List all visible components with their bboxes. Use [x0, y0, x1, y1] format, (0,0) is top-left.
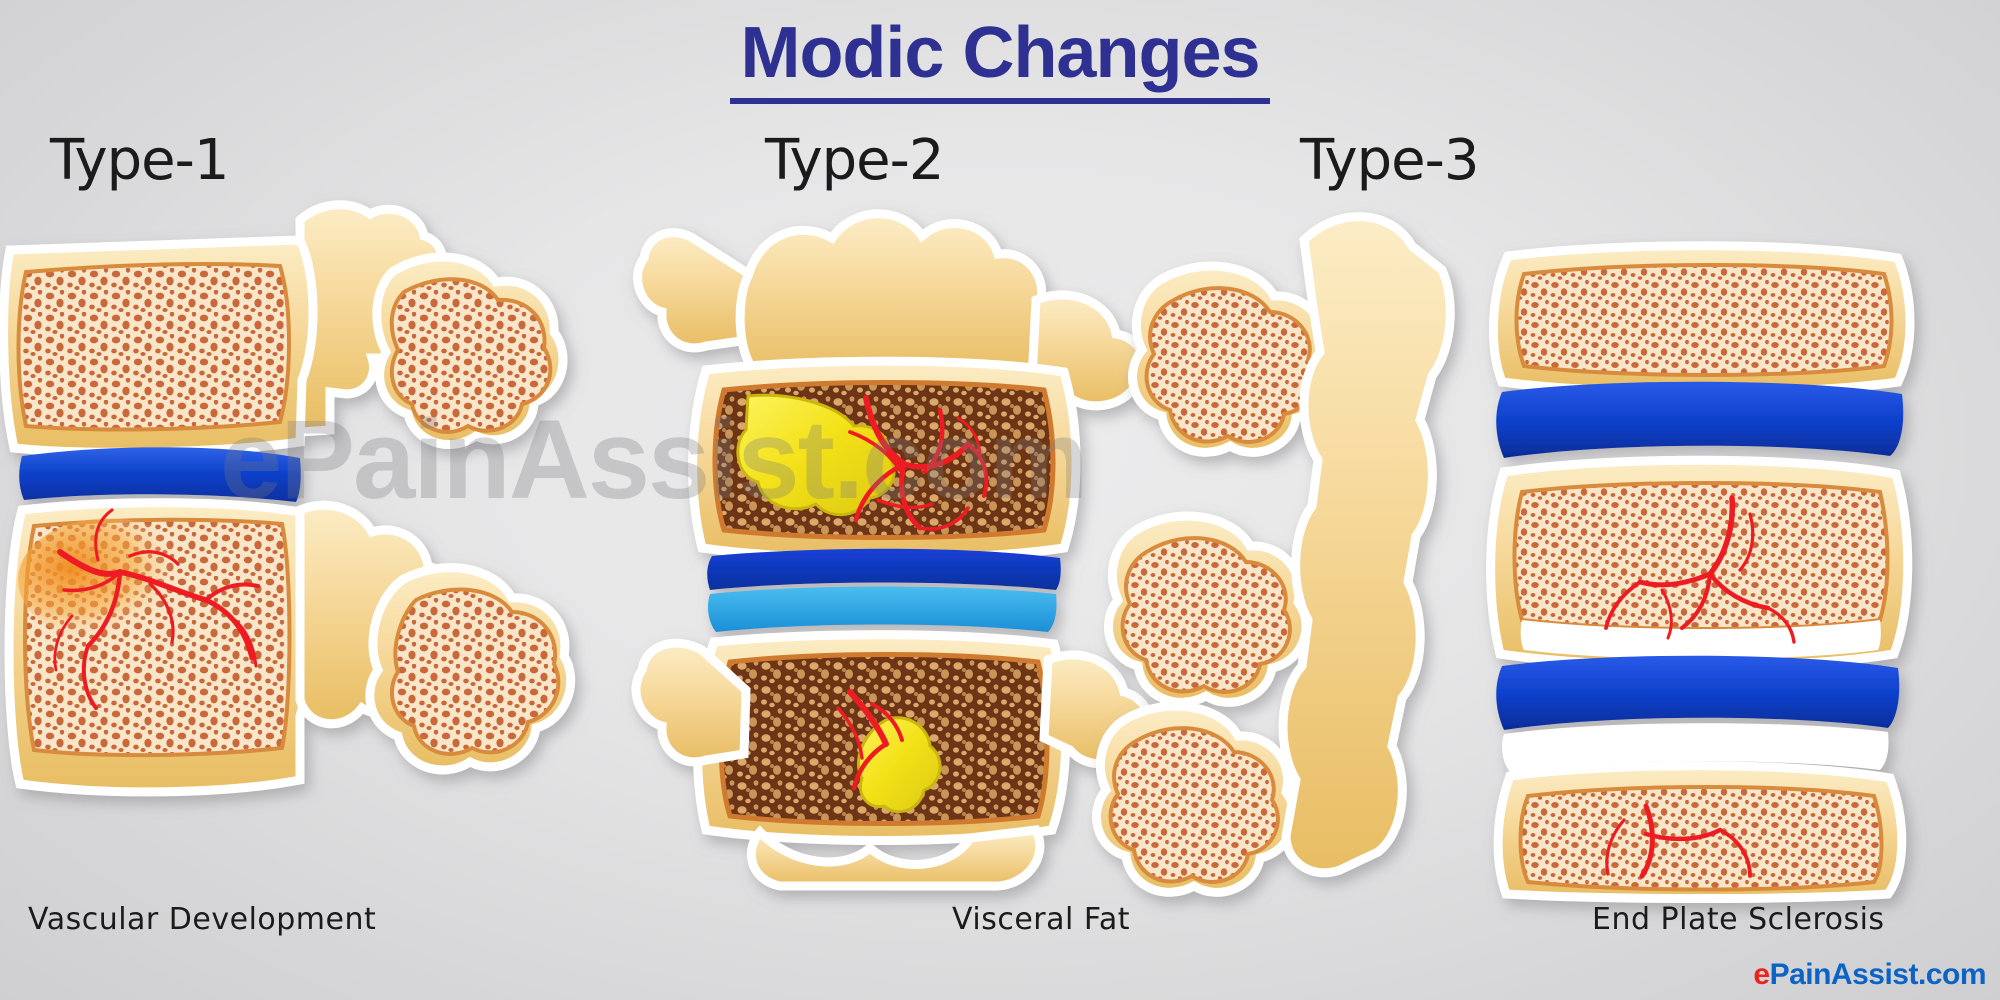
page-title: Modic Changes: [730, 16, 1269, 104]
type-1-illustration: [0, 180, 580, 900]
type-2-caption: Visceral Fat: [952, 902, 1130, 937]
infographic-canvas: Modic Changes Type-1 Type-2 Type-3: [0, 0, 2000, 1000]
title-container: Modic Changes: [0, 16, 2000, 104]
type-3-illustration: [1090, 180, 2000, 900]
epainassist-logo[interactable]: ePainAssist.com: [1753, 958, 1986, 992]
type-1-caption: Vascular Development: [28, 902, 376, 937]
logo-rest: PainAssist.com: [1770, 958, 1986, 991]
logo-prefix: e: [1753, 958, 1769, 991]
type-3-caption: End Plate Sclerosis: [1592, 902, 1885, 937]
